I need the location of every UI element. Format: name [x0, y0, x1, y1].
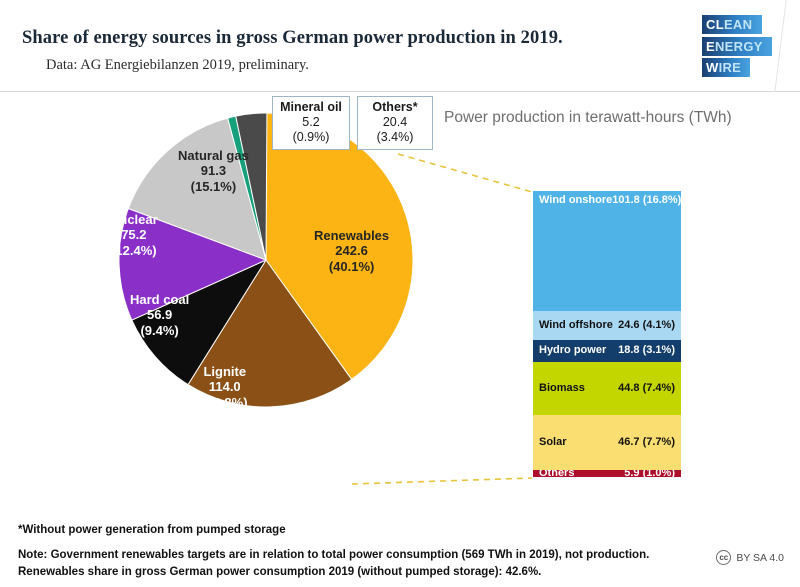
clean-energy-wire-logo[interactable]: CLEAN ENERGY WIRE	[702, 15, 774, 83]
header: Share of energy sources in gross German …	[0, 0, 800, 92]
bar-segment-label: Wind offshore	[539, 320, 613, 331]
bar-segment-label: Wind onshore	[539, 195, 612, 206]
callout-others-percent: (3.4%)	[364, 130, 426, 145]
data-source-subtitle: Data: AG Energiebilanzen 2019, prelimina…	[46, 57, 309, 74]
callout-mineral-oil-value: 5.2	[279, 115, 343, 130]
license-text: BY SA 4.0	[736, 552, 784, 564]
callout-mineral-oil: Mineral oil 5.2 (0.9%)	[272, 96, 350, 150]
footnote-note-line2: Renewables share in gross German power c…	[18, 564, 649, 581]
bar-segment-label: Biomass	[539, 383, 585, 394]
bar-segment-others: Others5.9 (1.0%)	[533, 470, 681, 477]
bar-segment-solar: Solar46.7 (7.7%)	[533, 415, 681, 470]
pie-chart: Renewables242.6(40.1%)Lignite114.0(18.8%…	[118, 110, 418, 410]
logo-clean-rest: EAN	[724, 18, 752, 31]
creative-commons-icon: cc	[716, 550, 731, 565]
callout-mineral-oil-label: Mineral oil	[279, 100, 343, 115]
bar-segment-value: 101.8 (16.8%)	[612, 195, 681, 206]
logo-line-energy: ENERGY	[702, 37, 772, 56]
bar-segment-value: 24.6 (4.1%)	[618, 320, 675, 331]
page-title: Share of energy sources in gross German …	[22, 28, 563, 49]
license-badge: cc BY SA 4.0	[716, 550, 784, 565]
logo-line-wire: WIRE	[702, 58, 750, 77]
bar-segment-value: 46.7 (7.7%)	[618, 437, 675, 448]
callout-others-value: 20.4	[364, 115, 426, 130]
bar-segment-wind-offshore: Wind offshore24.6 (4.1%)	[533, 311, 681, 340]
chart-unit-label: Power production in terawatt-hours (TWh)	[444, 109, 732, 127]
logo-wire-lead: W	[706, 61, 719, 74]
logo-energy-lead: E	[706, 40, 715, 53]
callout-mineral-oil-percent: (0.9%)	[279, 130, 343, 145]
bar-segment-biomass: Biomass44.8 (7.4%)	[533, 362, 681, 415]
bar-segment-hydro-power: Hydro power18.8 (3.1%)	[533, 340, 681, 362]
logo-energy-rest: NERGY	[715, 40, 763, 53]
logo-line-clean: CLEAN	[702, 15, 762, 34]
logo-clean-lead: CL	[706, 18, 724, 31]
footer: *Without power generation from pumped st…	[0, 510, 800, 587]
logo-wire-rest: IRE	[719, 61, 742, 74]
bar-segment-wind-onshore: Wind onshore101.8 (16.8%)	[533, 191, 681, 311]
bar-segment-label: Hydro power	[539, 345, 606, 356]
bar-segment-label: Others	[539, 470, 574, 477]
infographic-root: Share of energy sources in gross German …	[0, 0, 800, 587]
page-fold-decoration	[774, 0, 799, 92]
bar-segment-label: Solar	[539, 437, 567, 448]
renewables-breakdown-bar: Wind onshore101.8 (16.8%)Wind offshore24…	[532, 190, 682, 478]
chart-area: Power production in terawatt-hours (TWh)…	[0, 92, 800, 510]
bar-segment-value: 18.8 (3.1%)	[618, 345, 675, 356]
callout-others: Others* 20.4 (3.4%)	[357, 96, 433, 150]
bar-segment-value: 44.8 (7.4%)	[618, 383, 675, 394]
pie-svg	[118, 110, 418, 410]
callout-others-label: Others*	[364, 100, 426, 115]
footnote-note-line1: Note: Government renewables targets are …	[18, 547, 649, 564]
bar-segment-value: 5.9 (1.0%)	[624, 470, 675, 477]
footnote-asterisk: *Without power generation from pumped st…	[18, 524, 286, 536]
footnote-note: Note: Government renewables targets are …	[18, 547, 649, 582]
